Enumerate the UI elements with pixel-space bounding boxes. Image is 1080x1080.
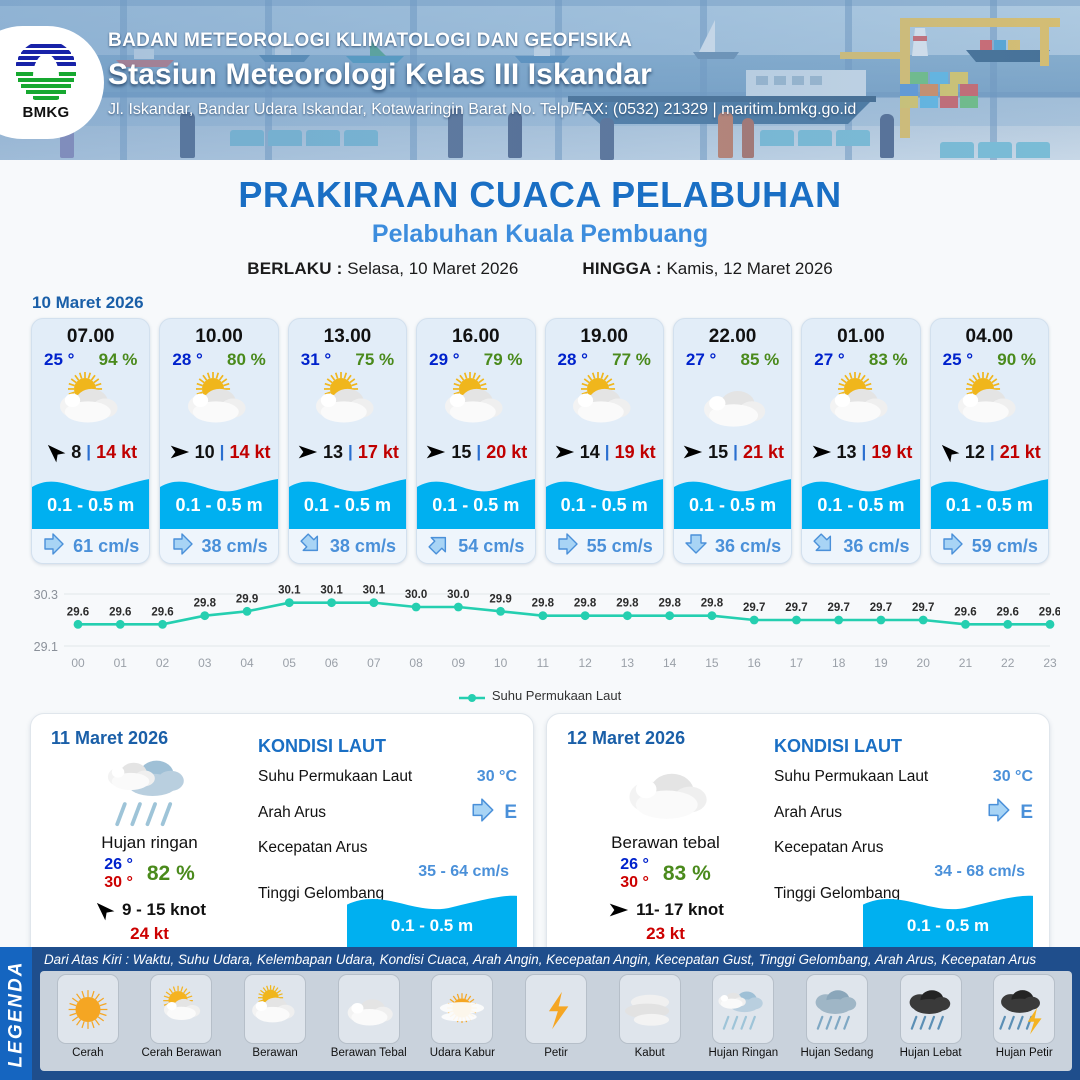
current-direction-arrow-icon	[470, 797, 496, 828]
bmkg-logo-text: BMKG	[22, 104, 69, 121]
card-wave-block: 0.1 - 0.5 m	[289, 469, 406, 529]
card-gust: 14 kt	[229, 442, 270, 463]
card-temperature: 28 °	[172, 350, 202, 370]
panel-wind-row: 11- 17 knot	[563, 899, 768, 921]
card-current-speed: 38 cm/s	[202, 536, 268, 557]
card-wave-height: 0.1 - 0.5 m	[931, 495, 1048, 516]
card-separator: |	[348, 442, 353, 462]
current-direction-arrow-icon	[556, 532, 580, 561]
card-wave-height: 0.1 - 0.5 m	[289, 495, 406, 516]
card-current-speed: 36 cm/s	[715, 536, 781, 557]
svg-text:01: 01	[114, 656, 128, 670]
svg-text:29.7: 29.7	[912, 602, 934, 614]
card-temperature: 27 °	[814, 350, 844, 370]
svg-text:30.0: 30.0	[405, 589, 427, 601]
legend-item-label: Kabut	[635, 1047, 665, 1059]
card-time: 04.00	[931, 326, 1048, 348]
hourly-date-label: 10 Maret 2026	[32, 293, 1080, 313]
card-humidity: 80 %	[227, 350, 266, 370]
current-direction-group: E	[470, 797, 517, 828]
title-block: PRAKIRAAN CUACA PELABUHAN Pelabuhan Kual…	[0, 174, 1080, 279]
card-wave-height: 0.1 - 0.5 m	[674, 495, 791, 516]
card-wave-block: 0.1 - 0.5 m	[417, 469, 534, 529]
hourly-card[interactable]: 16.00 29 ° 79 % 15 | 20 kt 0.1 - 0.5 m	[416, 318, 535, 564]
wind-direction-arrow-icon	[810, 441, 832, 463]
hourly-card[interactable]: 04.00 25 ° 90 % 12 | 21 kt 0.1 - 0.5 m	[930, 318, 1049, 564]
svg-text:29.8: 29.8	[658, 598, 681, 610]
card-wave-block: 0.1 - 0.5 m	[546, 469, 663, 529]
legend-bar: LEGENDA Dari Atas Kiri : Waktu, Suhu Uda…	[0, 947, 1080, 1080]
sea-row-label: Kecepatan Arus	[774, 839, 883, 857]
svg-text:17: 17	[790, 656, 804, 670]
card-weather-icon	[417, 371, 534, 437]
svg-text:29.6: 29.6	[954, 606, 976, 618]
panel-humidity: 82 %	[147, 862, 195, 886]
card-wind-speed: 8	[71, 442, 81, 463]
card-current-speed: 61 cm/s	[73, 536, 139, 557]
legend-item-label: Cerah	[72, 1047, 103, 1059]
card-time: 10.00	[160, 326, 277, 348]
current-direction-arrow-icon	[684, 532, 708, 561]
sea-row-value: 34 - 68 cm/s	[774, 863, 1033, 881]
svg-text:29.8: 29.8	[194, 598, 217, 610]
svg-text:29.8: 29.8	[616, 598, 639, 610]
svg-text:29.1: 29.1	[34, 640, 58, 654]
chart-legend-label: Suhu Permukaan Laut	[492, 688, 621, 703]
card-wind-speed: 15	[451, 442, 471, 463]
legend-item: Hujan Sedang	[791, 974, 883, 1071]
card-wind-row: 15 | 20 kt	[417, 437, 534, 467]
card-wave-height: 0.1 - 0.5 m	[417, 495, 534, 516]
card-wave-block: 0.1 - 0.5 m	[802, 469, 919, 529]
daily-forecast-panels: 11 Maret 2026 Hujan ringan 26 °	[0, 703, 1080, 963]
panel-temps: 26 ° 30 °	[620, 856, 649, 892]
panel-wave-block: 0.1 - 0.5 m	[347, 886, 517, 948]
panel-wave-height: 0.1 - 0.5 m	[347, 916, 517, 936]
page-subtitle: Pelabuhan Kuala Pembuang	[0, 220, 1080, 249]
panel-temp-max: 30 °	[104, 874, 133, 891]
card-current-row: 38 cm/s	[289, 529, 406, 563]
panel-weather-icon	[563, 751, 768, 829]
sea-row: Arah Arus E	[774, 797, 1033, 828]
legend-side-label: LEGENDA	[0, 947, 32, 1080]
page-header: BMKG BADAN METEOROLOGI KLIMATOLOGI DAN G…	[0, 0, 1080, 160]
card-wave-block: 0.1 - 0.5 m	[160, 469, 277, 529]
current-direction-arrow-icon	[299, 532, 323, 561]
card-current-row: 55 cm/s	[546, 529, 663, 563]
sea-row: Suhu Permukaan Laut 30 °C	[258, 768, 517, 786]
card-current-row: 36 cm/s	[802, 529, 919, 563]
valid-until-label: HINGGA :	[582, 259, 661, 278]
svg-text:11: 11	[537, 656, 550, 670]
card-humidity: 77 %	[612, 350, 651, 370]
card-temperature: 25 °	[943, 350, 973, 370]
svg-text:30.1: 30.1	[320, 585, 343, 597]
card-current-row: 61 cm/s	[32, 529, 149, 563]
card-weather-icon	[32, 371, 149, 437]
svg-text:29.7: 29.7	[743, 602, 765, 614]
card-separator: |	[733, 442, 738, 462]
svg-text:29.6: 29.6	[1039, 606, 1060, 618]
wind-direction-arrow-icon	[938, 441, 960, 463]
wind-direction-arrow-icon	[168, 441, 190, 463]
card-time: 22.00	[674, 326, 791, 348]
card-weather-icon	[546, 371, 663, 437]
card-separator: |	[605, 442, 610, 462]
legend-item-label: Cerah Berawan	[142, 1047, 222, 1059]
card-humidity: 85 %	[741, 350, 780, 370]
card-temperature: 31 °	[301, 350, 331, 370]
sea-row-label: Arah Arus	[774, 804, 842, 822]
card-gust: 19 kt	[871, 442, 912, 463]
card-humidity: 83 %	[869, 350, 908, 370]
panel-gust: 23 kt	[563, 924, 768, 944]
svg-text:29.7: 29.7	[828, 602, 850, 614]
sea-row: Kecepatan Arus	[258, 839, 517, 857]
card-gust: 20 kt	[486, 442, 527, 463]
valid-from: BERLAKU : Selasa, 10 Maret 2026	[247, 259, 518, 279]
hourly-card[interactable]: 07.00 25 ° 94 % 8 | 14 kt 0.1 - 0.5 m	[31, 318, 150, 564]
legend-item-icon	[244, 974, 306, 1044]
legend-item-icon	[150, 974, 212, 1044]
legend-item-label: Hujan Ringan	[708, 1047, 778, 1059]
station-address: Jl. Iskandar, Bandar Udara Iskandar, Kot…	[108, 101, 856, 119]
svg-text:05: 05	[283, 656, 297, 670]
hourly-forecast-row: 07.00 25 ° 94 % 8 | 14 kt 0.1 - 0.5 m	[0, 318, 1080, 564]
legend-item-icon	[712, 974, 774, 1044]
card-wind-row: 13 | 19 kt	[802, 437, 919, 467]
legend-item: Hujan Petir	[978, 974, 1070, 1071]
svg-text:30.0: 30.0	[447, 589, 469, 601]
current-direction-arrow-icon	[171, 532, 195, 561]
svg-text:29.7: 29.7	[870, 602, 892, 614]
daily-forecast-panel[interactable]: 11 Maret 2026 Hujan ringan 26 °	[30, 713, 534, 963]
panel-temps: 26 ° 30 °	[104, 856, 133, 892]
sea-row: Kecepatan Arus	[774, 839, 1033, 857]
card-current-speed: 54 cm/s	[458, 536, 524, 557]
svg-text:20: 20	[917, 656, 931, 670]
svg-text:21: 21	[959, 656, 973, 670]
card-current-speed: 36 cm/s	[843, 536, 909, 557]
sea-row-value: E	[1020, 802, 1033, 824]
wind-direction-arrow-icon	[44, 441, 66, 463]
svg-text:29.9: 29.9	[236, 593, 258, 605]
card-current-row: 36 cm/s	[674, 529, 791, 563]
svg-text:06: 06	[325, 656, 339, 670]
svg-text:29.6: 29.6	[109, 606, 131, 618]
hourly-card[interactable]: 19.00 28 ° 77 % 14 | 19 kt 0.1 - 0.5 m	[545, 318, 664, 564]
current-direction-arrow-icon	[812, 532, 836, 561]
wind-direction-arrow-icon	[424, 441, 446, 463]
hourly-card[interactable]: 22.00 27 ° 85 % 15 | 21 kt 0.1 - 0.5 m	[673, 318, 792, 564]
panel-temp-humidity: 26 ° 30 ° 83 %	[563, 856, 768, 892]
valid-until-value: Kamis, 12 Maret 2026	[666, 259, 832, 278]
sea-row: Arah Arus E	[258, 797, 517, 828]
card-wind-speed: 13	[837, 442, 857, 463]
current-direction-arrow-icon	[986, 797, 1012, 828]
panel-sea-conditions: KONDISI LAUT Suhu Permukaan Laut 30 °C A…	[768, 728, 1033, 948]
card-time: 19.00	[546, 326, 663, 348]
hourly-card[interactable]: 01.00 27 ° 83 % 13 | 19 kt 0.1 - 0.5 m	[801, 318, 920, 564]
legend-item: Petir	[510, 974, 602, 1071]
current-direction-group: E	[986, 797, 1033, 828]
agency-name: BADAN METEOROLOGI KLIMATOLOGI DAN GEOFIS…	[108, 30, 856, 52]
legend-item-icon	[619, 974, 681, 1044]
wind-direction-arrow-icon	[93, 899, 115, 921]
svg-text:29.6: 29.6	[151, 606, 173, 618]
legend-item: Kabut	[604, 974, 696, 1071]
card-gust: 19 kt	[615, 442, 656, 463]
svg-text:29.8: 29.8	[532, 598, 555, 610]
validity-row: BERLAKU : Selasa, 10 Maret 2026 HINGGA :…	[0, 259, 1080, 279]
legend-item-label: Hujan Lebat	[900, 1047, 962, 1059]
panel-temp-min: 26 °	[104, 856, 133, 873]
svg-text:30.3: 30.3	[34, 588, 58, 602]
svg-text:30.1: 30.1	[363, 585, 386, 597]
panel-humidity: 83 %	[663, 862, 711, 886]
svg-text:08: 08	[409, 656, 423, 670]
legend-item: Berawan Tebal	[323, 974, 415, 1071]
card-wave-height: 0.1 - 0.5 m	[802, 495, 919, 516]
valid-from-label: BERLAKU :	[247, 259, 342, 278]
svg-text:00: 00	[71, 656, 85, 670]
svg-text:23: 23	[1043, 656, 1057, 670]
legend-item-icon	[900, 974, 962, 1044]
sea-row-value: 35 - 64 cm/s	[258, 863, 517, 881]
wind-direction-arrow-icon	[681, 441, 703, 463]
card-temperature: 29 °	[429, 350, 459, 370]
legend-item-label: Berawan	[252, 1047, 297, 1059]
legend-item: Cerah Berawan	[136, 974, 228, 1071]
svg-text:04: 04	[240, 656, 254, 670]
svg-text:30.1: 30.1	[278, 585, 301, 597]
card-wind-row: 8 | 14 kt	[32, 437, 149, 467]
legend-item-icon	[431, 974, 493, 1044]
current-direction-arrow-icon	[42, 532, 66, 561]
card-weather-icon	[802, 371, 919, 437]
card-wind-row: 13 | 17 kt	[289, 437, 406, 467]
legend-item: Udara Kabur	[417, 974, 509, 1071]
legend-item-label: Hujan Petir	[996, 1047, 1053, 1059]
svg-text:16: 16	[747, 656, 761, 670]
card-gust: 21 kt	[1000, 442, 1041, 463]
card-wind-row: 15 | 21 kt	[674, 437, 791, 467]
valid-until: HINGGA : Kamis, 12 Maret 2026	[582, 259, 832, 279]
card-wind-speed: 15	[708, 442, 728, 463]
card-current-row: 59 cm/s	[931, 529, 1048, 563]
card-separator: |	[220, 442, 225, 462]
card-current-row: 54 cm/s	[417, 529, 534, 563]
legend-item: Cerah	[42, 974, 134, 1071]
card-current-speed: 38 cm/s	[330, 536, 396, 557]
legend-item: Berawan	[229, 974, 321, 1071]
card-current-speed: 59 cm/s	[972, 536, 1038, 557]
legend-item-icon	[525, 974, 587, 1044]
card-humidity: 94 %	[99, 350, 138, 370]
card-separator: |	[862, 442, 867, 462]
wind-direction-arrow-icon	[296, 441, 318, 463]
card-separator: |	[476, 442, 481, 462]
legend-item-icon	[57, 974, 119, 1044]
valid-from-value: Selasa, 10 Maret 2026	[347, 259, 518, 278]
page-title: PRAKIRAAN CUACA PELABUHAN	[0, 174, 1080, 216]
card-humidity: 79 %	[484, 350, 523, 370]
panel-wind-speed: 9 - 15 knot	[122, 900, 206, 920]
legend-side-text: LEGENDA	[5, 960, 27, 1067]
card-wind-row: 12 | 21 kt	[931, 437, 1048, 467]
card-humidity: 75 %	[355, 350, 394, 370]
svg-text:13: 13	[621, 656, 635, 670]
svg-text:03: 03	[198, 656, 212, 670]
card-wave-block: 0.1 - 0.5 m	[931, 469, 1048, 529]
sea-row-value: 30 °C	[477, 768, 517, 786]
sea-conditions-title: KONDISI LAUT	[258, 736, 517, 757]
current-direction-arrow-icon	[427, 532, 451, 561]
card-wind-speed: 10	[195, 442, 215, 463]
svg-text:15: 15	[705, 656, 719, 670]
panel-temp-humidity: 26 ° 30 ° 82 %	[47, 856, 252, 892]
wind-direction-arrow-icon	[607, 899, 629, 921]
svg-text:19: 19	[874, 656, 888, 670]
card-wave-height: 0.1 - 0.5 m	[32, 495, 149, 516]
card-wind-speed: 12	[965, 442, 985, 463]
sea-row: Suhu Permukaan Laut 30 °C	[774, 768, 1033, 786]
card-wind-row: 14 | 19 kt	[546, 437, 663, 467]
panel-condition: Hujan ringan	[47, 833, 252, 853]
sea-row-label: Kecepatan Arus	[258, 839, 367, 857]
hourly-card[interactable]: 13.00 31 ° 75 % 13 | 17 kt 0.1 - 0.5 m	[288, 318, 407, 564]
sea-conditions-title: KONDISI LAUT	[774, 736, 1033, 757]
card-wind-row: 10 | 14 kt	[160, 437, 277, 467]
card-weather-icon	[289, 371, 406, 437]
sea-row-value: 30 °C	[993, 768, 1033, 786]
svg-text:10: 10	[494, 656, 508, 670]
card-current-speed: 55 cm/s	[587, 536, 653, 557]
panel-wave-height: 0.1 - 0.5 m	[863, 916, 1033, 936]
card-wind-speed: 14	[580, 442, 600, 463]
legend-item: Hujan Ringan	[697, 974, 789, 1071]
svg-text:29.6: 29.6	[997, 606, 1019, 618]
daily-forecast-panel[interactable]: 12 Maret 2026 Berawan tebal 26 ° 30 ° 83…	[546, 713, 1050, 963]
panel-temp-min: 26 °	[620, 856, 649, 873]
legend-item-label: Berawan Tebal	[331, 1047, 407, 1059]
panel-gust: 24 kt	[47, 924, 252, 944]
svg-text:14: 14	[663, 656, 677, 670]
card-wave-height: 0.1 - 0.5 m	[546, 495, 663, 516]
panel-sea-conditions: KONDISI LAUT Suhu Permukaan Laut 30 °C A…	[252, 728, 517, 948]
card-time: 07.00	[32, 326, 149, 348]
svg-text:18: 18	[832, 656, 846, 670]
sea-row-label: Suhu Permukaan Laut	[258, 768, 412, 786]
wind-direction-arrow-icon	[553, 441, 575, 463]
card-current-row: 38 cm/s	[160, 529, 277, 563]
sea-row-label: Arah Arus	[258, 804, 326, 822]
card-time: 13.00	[289, 326, 406, 348]
current-direction-arrow-icon	[941, 532, 965, 561]
sea-row-value: E	[504, 802, 517, 824]
panel-wind-speed: 11- 17 knot	[636, 900, 724, 920]
panel-left: 12 Maret 2026 Berawan tebal 26 ° 30 ° 83…	[563, 728, 768, 948]
chart-legend: Suhu Permukaan Laut	[0, 688, 1080, 703]
legend-item-label: Udara Kabur	[430, 1047, 495, 1059]
legend-item-icon	[993, 974, 1055, 1044]
card-weather-icon	[674, 371, 791, 437]
svg-text:29.7: 29.7	[785, 602, 807, 614]
card-humidity: 90 %	[997, 350, 1036, 370]
sst-chart: 30.329.129.60029.60129.60229.80329.90430…	[20, 576, 1060, 684]
card-gust: 21 kt	[743, 442, 784, 463]
panel-wave-block: 0.1 - 0.5 m	[863, 886, 1033, 948]
card-separator: |	[86, 442, 91, 462]
panel-temp-max: 30 °	[620, 874, 649, 891]
legend-item-icon	[806, 974, 868, 1044]
svg-text:22: 22	[1001, 656, 1015, 670]
card-temperature: 28 °	[558, 350, 588, 370]
card-gust: 17 kt	[358, 442, 399, 463]
card-gust: 14 kt	[96, 442, 137, 463]
card-wave-block: 0.1 - 0.5 m	[32, 469, 149, 529]
card-weather-icon	[160, 371, 277, 437]
hourly-card[interactable]: 10.00 28 ° 80 % 10 | 14 kt 0.1 - 0.5 m	[159, 318, 278, 564]
panel-weather-icon	[47, 751, 252, 829]
sst-chart-svg: 30.329.129.60029.60129.60229.80329.90430…	[20, 576, 1060, 684]
svg-text:29.8: 29.8	[574, 598, 597, 610]
legend-item-icon	[338, 974, 400, 1044]
chart-legend-marker	[459, 691, 485, 701]
panel-condition: Berawan tebal	[563, 833, 768, 853]
svg-text:02: 02	[156, 656, 170, 670]
card-temperature: 25 °	[44, 350, 74, 370]
svg-text:29.9: 29.9	[489, 593, 511, 605]
svg-text:29.6: 29.6	[67, 606, 89, 618]
bmkg-logo-badge	[15, 40, 77, 102]
card-time: 16.00	[417, 326, 534, 348]
svg-text:12: 12	[578, 656, 592, 670]
sea-row-label: Suhu Permukaan Laut	[774, 768, 928, 786]
card-weather-icon	[931, 371, 1048, 437]
legend-item-label: Hujan Sedang	[800, 1047, 873, 1059]
legend-item-label: Petir	[544, 1047, 568, 1059]
card-wave-block: 0.1 - 0.5 m	[674, 469, 791, 529]
svg-text:09: 09	[452, 656, 466, 670]
panel-wind-row: 9 - 15 knot	[47, 899, 252, 921]
card-temperature: 27 °	[686, 350, 716, 370]
legend-item: Hujan Lebat	[885, 974, 977, 1071]
svg-text:07: 07	[367, 656, 381, 670]
legend-caption: Dari Atas Kiri : Waktu, Suhu Udara, Kele…	[40, 952, 1072, 967]
card-wind-speed: 13	[323, 442, 343, 463]
legend-items-row: Cerah Cerah Berawan Berawan Berawan	[40, 971, 1072, 1071]
svg-text:29.8: 29.8	[701, 598, 724, 610]
card-wave-height: 0.1 - 0.5 m	[160, 495, 277, 516]
panel-left: 11 Maret 2026 Hujan ringan 26 °	[47, 728, 252, 948]
card-separator: |	[990, 442, 995, 462]
card-time: 01.00	[802, 326, 919, 348]
station-name: Stasiun Meteorologi Kelas III Iskandar	[108, 58, 856, 92]
